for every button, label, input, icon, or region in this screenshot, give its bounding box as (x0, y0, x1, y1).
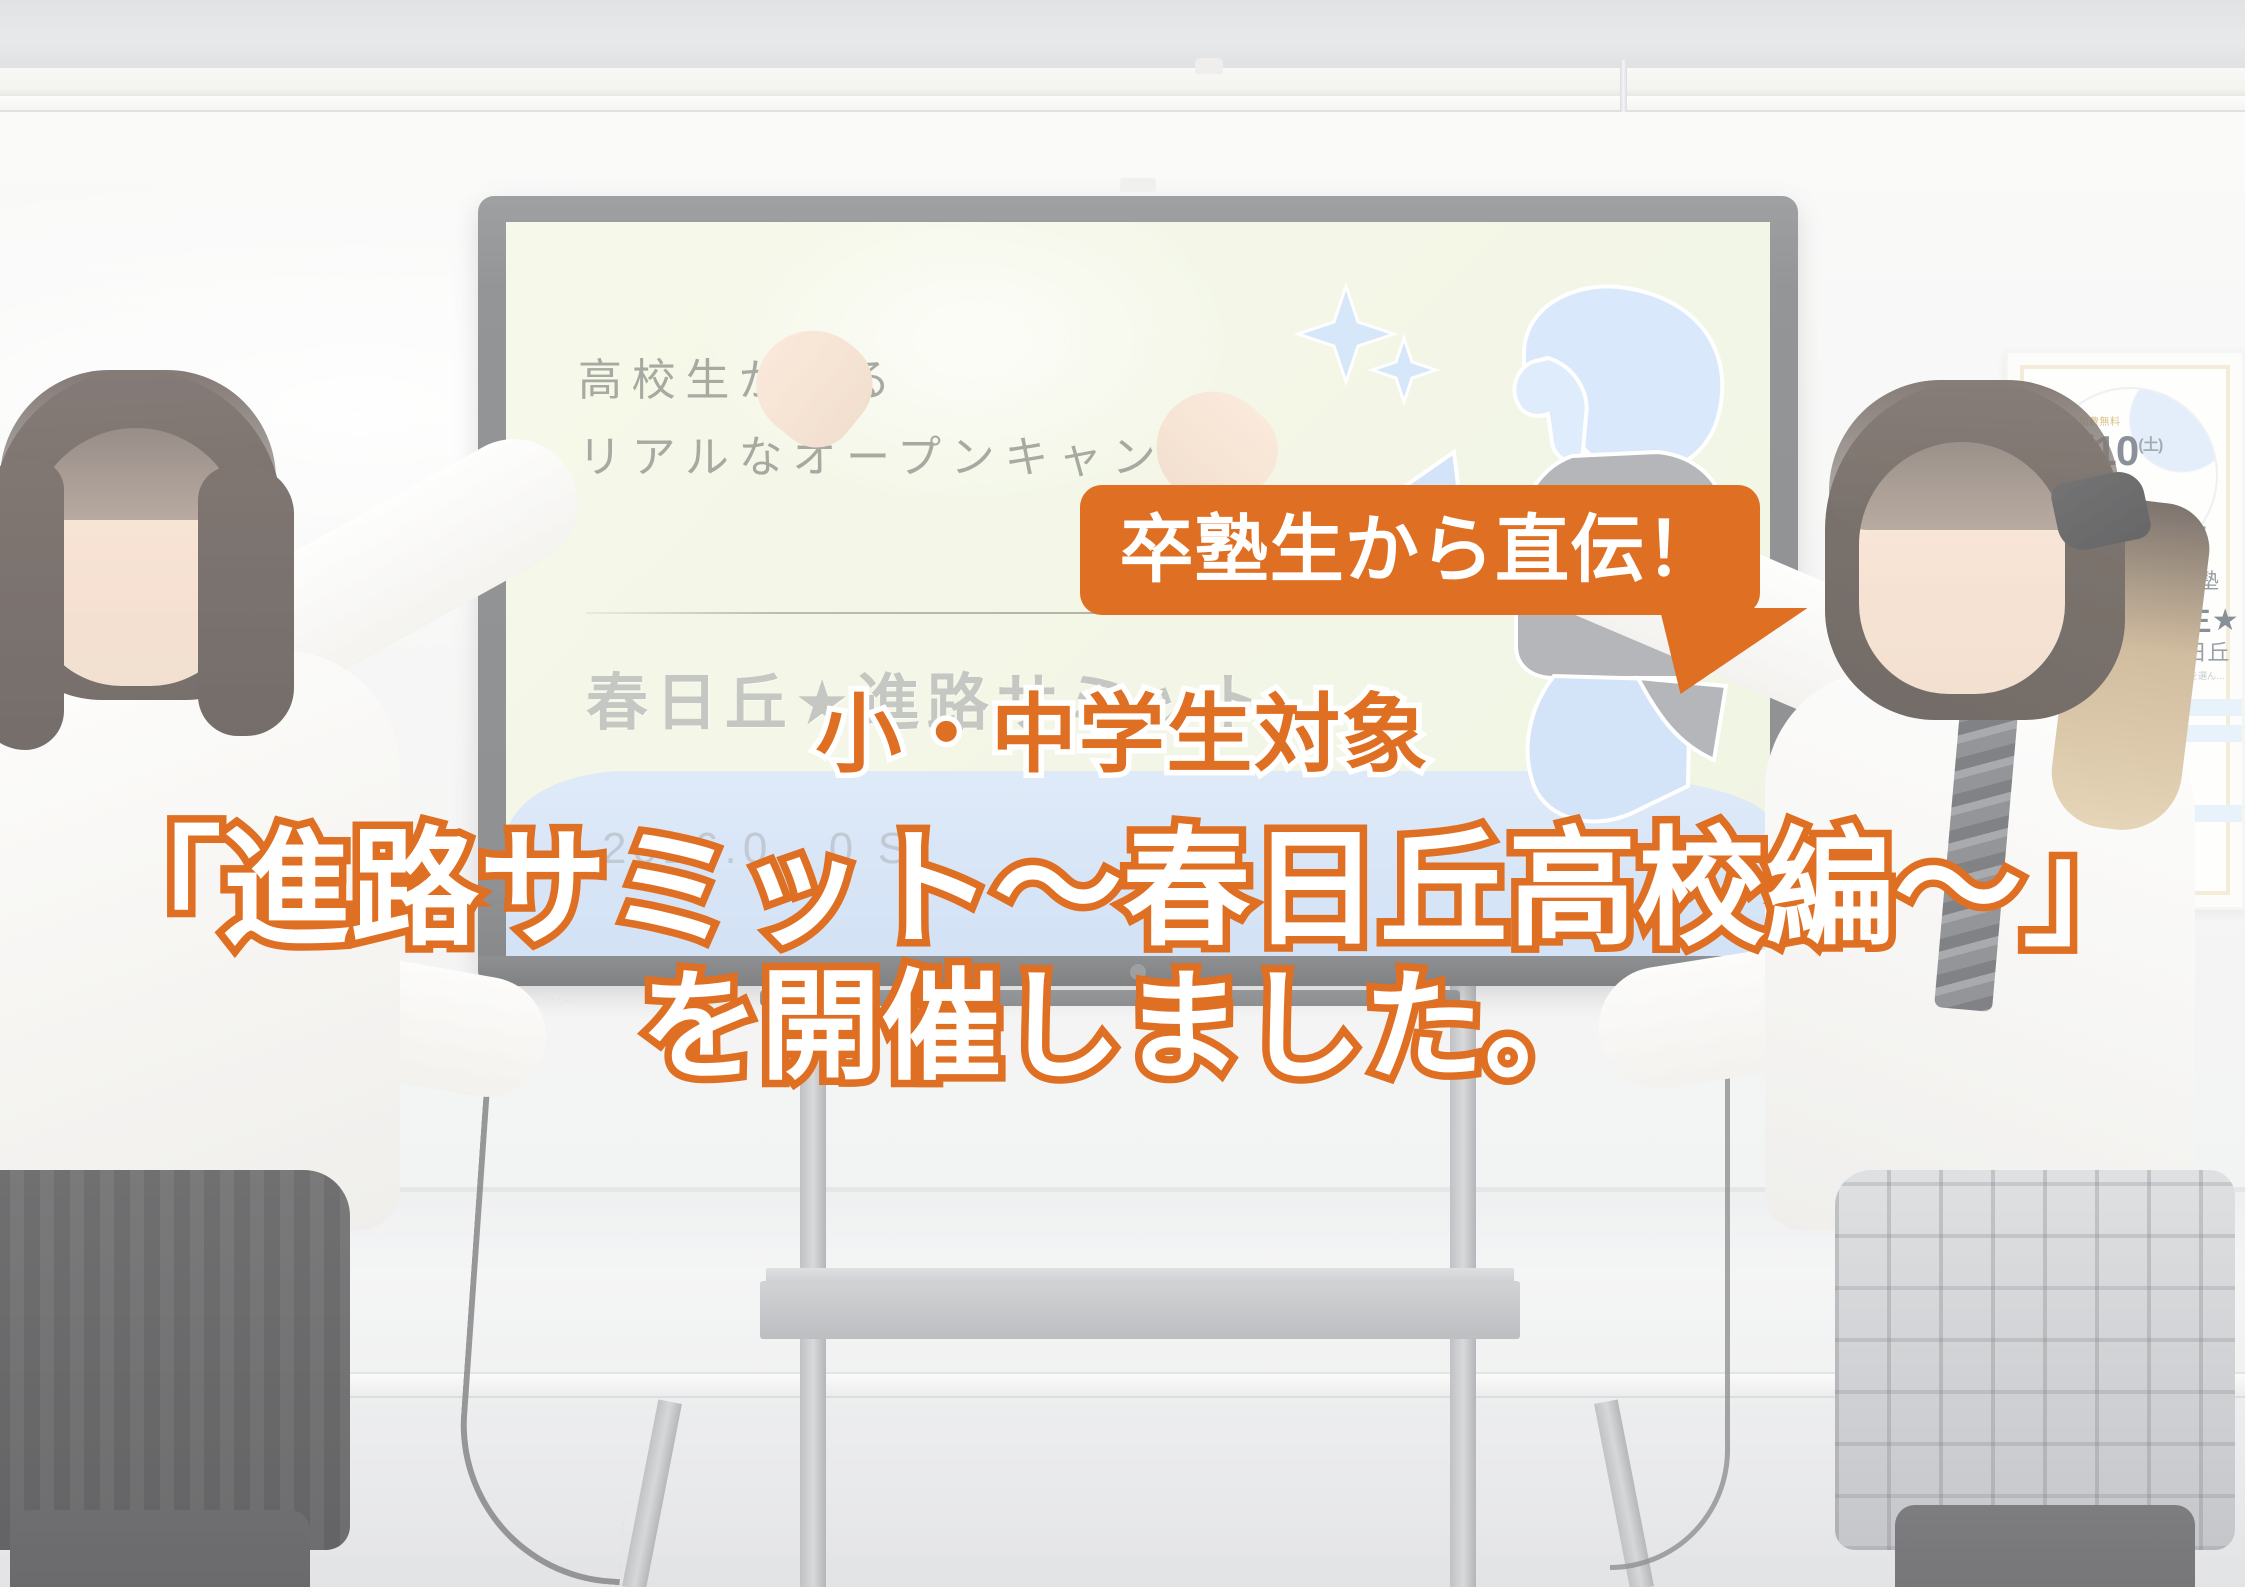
overlay-headline-line-2: を開催しました。 (0, 961, 2245, 1095)
screenshot-root: 参加費無料 1/10(土) 10:00〜12:30(受付9:30〜) 2026 … (0, 0, 2245, 1587)
badge-alumni-tips: 卒塾生から直伝！ (1080, 485, 1760, 615)
badge-label: 卒塾生から直伝！ (1120, 513, 1721, 587)
overlay-headline: 「進路サミット〜春日丘高校編〜」 を開催しました。 (0, 818, 2245, 1096)
overlay-headline-line-1: 「進路サミット〜春日丘高校編〜」 (0, 818, 2245, 961)
overlay-target-audience: 小・中学生対象 (0, 692, 2245, 778)
text-overlay-layer: 卒塾生から直伝！ 小・中学生対象 「進路サミット〜春日丘高校編〜」 を開催しまし… (0, 0, 2245, 1587)
badge-speech-tail (1650, 608, 1807, 694)
